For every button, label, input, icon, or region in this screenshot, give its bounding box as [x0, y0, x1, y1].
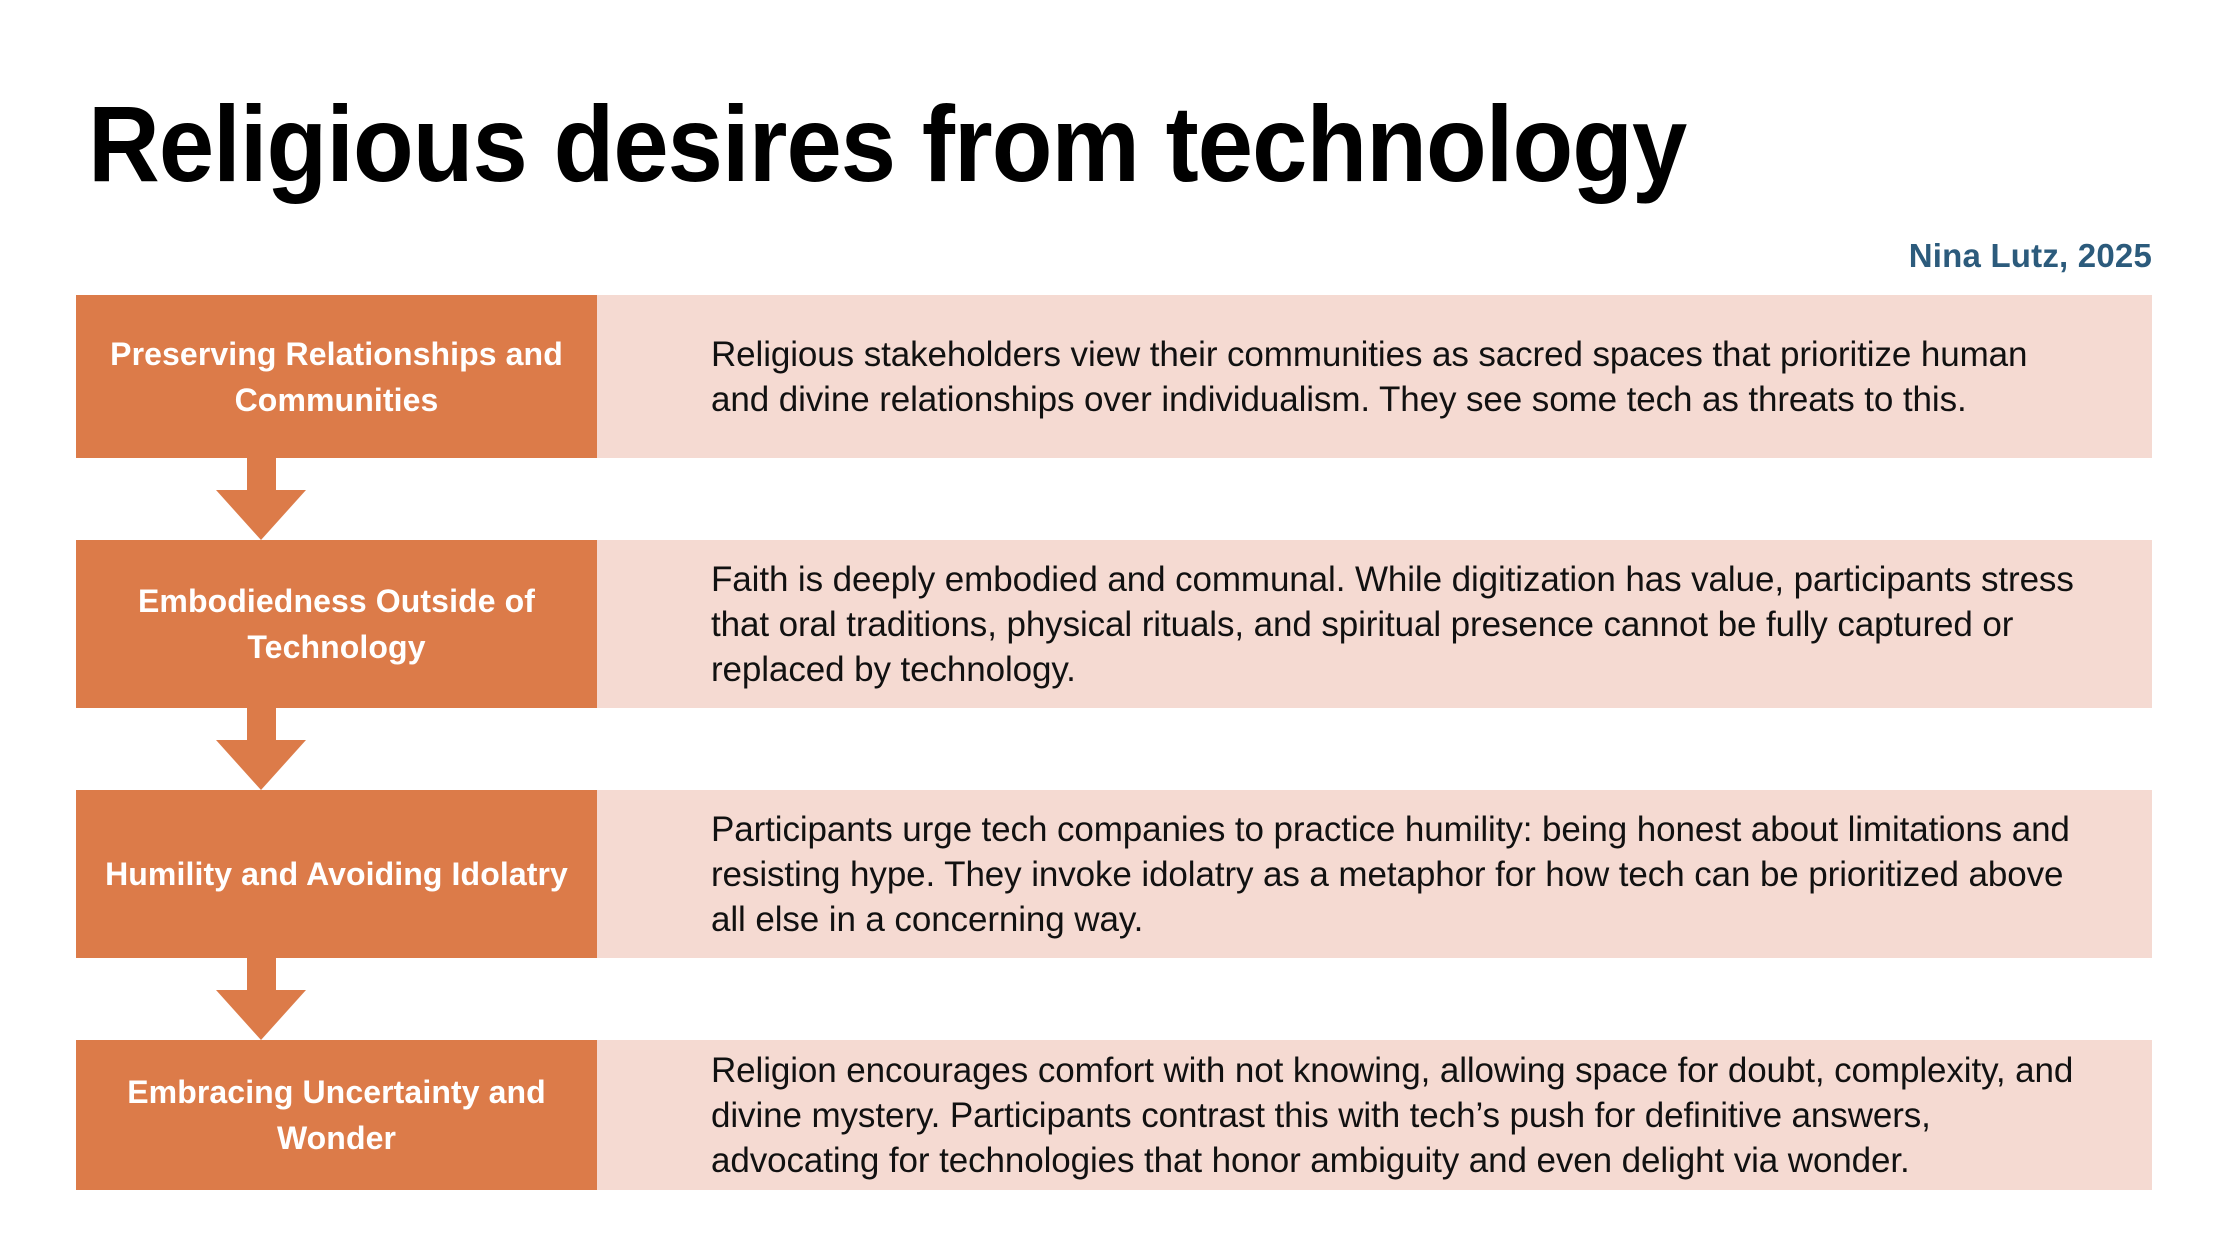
flow-row: Preserving Relationships and Communities… — [76, 295, 2152, 458]
flow-row-body-panel: Religion encourages comfort with not kno… — [597, 1040, 2152, 1190]
flow-row-label: Embracing Uncertainty and Wonder — [102, 1069, 571, 1161]
flow-row-label-box: Preserving Relationships and Communities — [76, 295, 597, 458]
flow-row-body: Religion encourages comfort with not kno… — [597, 1048, 2152, 1183]
flow-row-label: Embodiedness Outside of Technology — [102, 578, 571, 670]
flow-row: Humility and Avoiding Idolatry Participa… — [76, 790, 2152, 958]
flow-row-body: Religious stakeholders view their commun… — [597, 332, 2152, 422]
flow-diagram: Preserving Relationships and Communities… — [0, 0, 2234, 1254]
flow-row-body-panel: Religious stakeholders view their commun… — [597, 295, 2152, 458]
flow-row-label: Preserving Relationships and Communities — [102, 331, 571, 423]
flow-row-label-box: Embodiedness Outside of Technology — [76, 540, 597, 708]
down-arrow-icon — [0, 958, 521, 1040]
down-arrow-icon — [0, 458, 521, 540]
flow-row: Embodiedness Outside of Technology Faith… — [76, 540, 2152, 708]
flow-row-body: Participants urge tech companies to prac… — [597, 807, 2152, 942]
flow-row: Embracing Uncertainty and Wonder Religio… — [76, 1040, 2152, 1190]
flow-row-body: Faith is deeply embodied and communal. W… — [597, 557, 2152, 692]
flow-row-label-box: Humility and Avoiding Idolatry — [76, 790, 597, 958]
slide-canvas: Religious desires from technology Nina L… — [0, 0, 2234, 1254]
flow-row-body-panel: Participants urge tech companies to prac… — [597, 790, 2152, 958]
flow-row-label-box: Embracing Uncertainty and Wonder — [76, 1040, 597, 1190]
flow-row-label: Humility and Avoiding Idolatry — [105, 851, 568, 897]
down-arrow-icon — [0, 708, 521, 790]
flow-row-body-panel: Faith is deeply embodied and communal. W… — [597, 540, 2152, 708]
